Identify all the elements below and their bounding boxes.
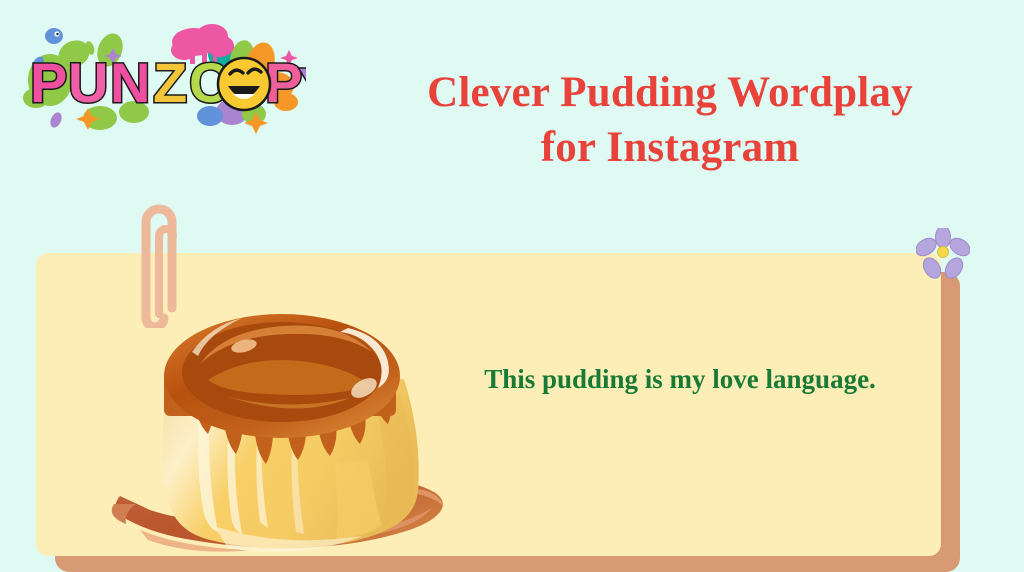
poster-canvas: P U N Z C P Y O bbox=[0, 0, 1024, 572]
svg-text:Y: Y bbox=[299, 60, 306, 113]
header: P U N Z C P Y O bbox=[0, 0, 1024, 165]
page-title-line-1: Clever Pudding Wordplay bbox=[427, 69, 913, 116]
svg-text:U: U bbox=[68, 51, 108, 114]
paperclip-icon bbox=[128, 196, 190, 328]
caramel-glaze-top bbox=[164, 314, 400, 438]
quote-text: This pudding is my love language. bbox=[450, 360, 910, 399]
flower-icon bbox=[916, 228, 970, 280]
svg-text:N: N bbox=[110, 51, 150, 114]
punzcopy-logo[interactable]: P U N Z C P Y O bbox=[14, 20, 306, 140]
page-title: Clever Pudding Wordplay for Instagram bbox=[340, 65, 1000, 175]
svg-text:Z: Z bbox=[153, 51, 187, 114]
svg-text:P: P bbox=[30, 51, 67, 114]
laughing-face-icon bbox=[218, 58, 270, 110]
page-title-line-2: for Instagram bbox=[541, 124, 800, 171]
